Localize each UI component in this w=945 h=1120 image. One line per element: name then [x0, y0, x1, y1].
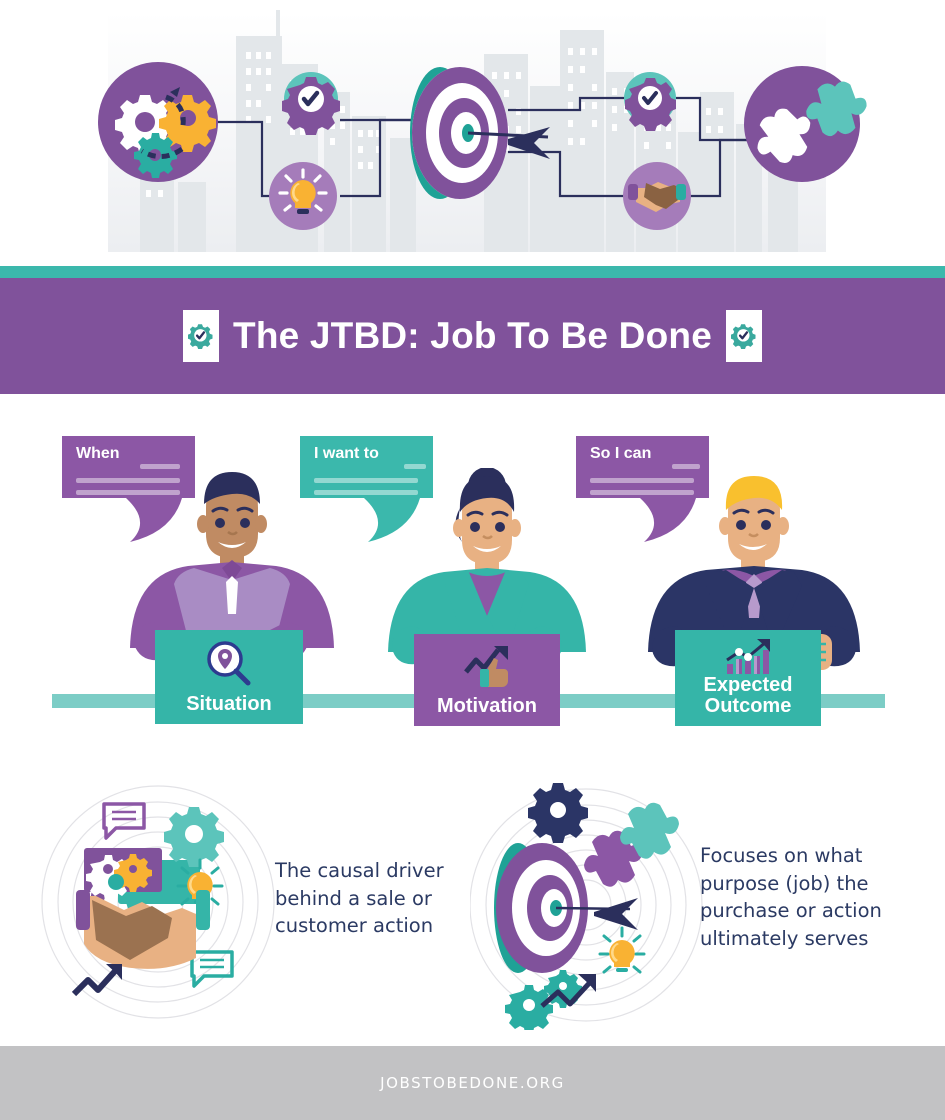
- bubble-i-want-to[interactable]: I want to: [300, 436, 433, 498]
- page-title: The JTBD: Job To Be Done: [233, 315, 712, 357]
- bubble-line: [672, 464, 700, 469]
- puzzle-circle-icon: [744, 66, 870, 182]
- magnifier-pin-icon: [205, 640, 253, 688]
- bubble-so-i-can[interactable]: So I can: [576, 436, 709, 498]
- bar-chart-arrow-icon: [723, 636, 777, 676]
- card-situation-label: Situation: [186, 694, 272, 716]
- gear-check-icon-right: [726, 310, 762, 362]
- gear-check-icon-left: [183, 310, 219, 362]
- bottom-section: The causal driver behind a sale or custo…: [0, 760, 945, 1040]
- bubble-so-i-can-text: So I can: [590, 446, 697, 462]
- card-situation[interactable]: Situation: [155, 630, 303, 724]
- card-expected-outcome-label: Expected Outcome: [704, 675, 793, 718]
- hero-diagram: [0, 0, 945, 266]
- bubble-line: [590, 490, 694, 495]
- hero-section: [0, 0, 945, 266]
- target-bullseye-icon: [410, 67, 550, 199]
- description-left: The causal driver behind a sale or custo…: [275, 857, 475, 940]
- bubble-when-tail: [126, 498, 204, 546]
- handshake-rings-illustration: [40, 780, 280, 1030]
- description-right: Focuses on what purpose (job) the purcha…: [700, 842, 900, 953]
- handshake-circle-icon: [623, 162, 691, 230]
- bubble-line: [140, 464, 180, 469]
- bubble-so-i-can-tail: [640, 498, 718, 546]
- bubble-line: [314, 478, 418, 483]
- bubble-i-want-to-tail: [364, 498, 442, 546]
- title-teal-strip: [0, 266, 945, 278]
- footer-url: JOBSTOBEDONE.ORG: [380, 1074, 565, 1092]
- bubble-line: [404, 464, 426, 469]
- footer-bar: JOBSTOBEDONE.ORG: [0, 1046, 945, 1120]
- bubble-i-want-to-text: I want to: [314, 446, 421, 462]
- bubble-line: [76, 478, 180, 483]
- card-motivation[interactable]: Motivation: [414, 634, 560, 726]
- card-label-line1: Expected: [704, 674, 793, 696]
- title-band: The JTBD: Job To Be Done: [0, 278, 945, 394]
- bubble-line: [590, 478, 694, 483]
- personas-section: Situation When: [0, 394, 945, 744]
- gears-circle-icon: [98, 62, 218, 182]
- growth-arrow-thumbsup-icon: [462, 642, 514, 692]
- bubble-when-text: When: [76, 446, 183, 462]
- gear-check-circle-icon-2: [624, 72, 676, 131]
- card-label-line2: Outcome: [705, 695, 792, 717]
- lightbulb-circle-icon: [269, 162, 337, 230]
- bubble-line: [314, 490, 418, 495]
- bubble-when[interactable]: When: [62, 436, 195, 498]
- bubble-line: [76, 490, 180, 495]
- target-rings-illustration: [470, 780, 710, 1030]
- card-expected-outcome[interactable]: Expected Outcome: [675, 630, 821, 726]
- card-motivation-label: Motivation: [437, 696, 537, 718]
- gear-check-circle-icon: [282, 72, 340, 135]
- infographic-page: The JTBD: Job To Be Done: [0, 0, 945, 1120]
